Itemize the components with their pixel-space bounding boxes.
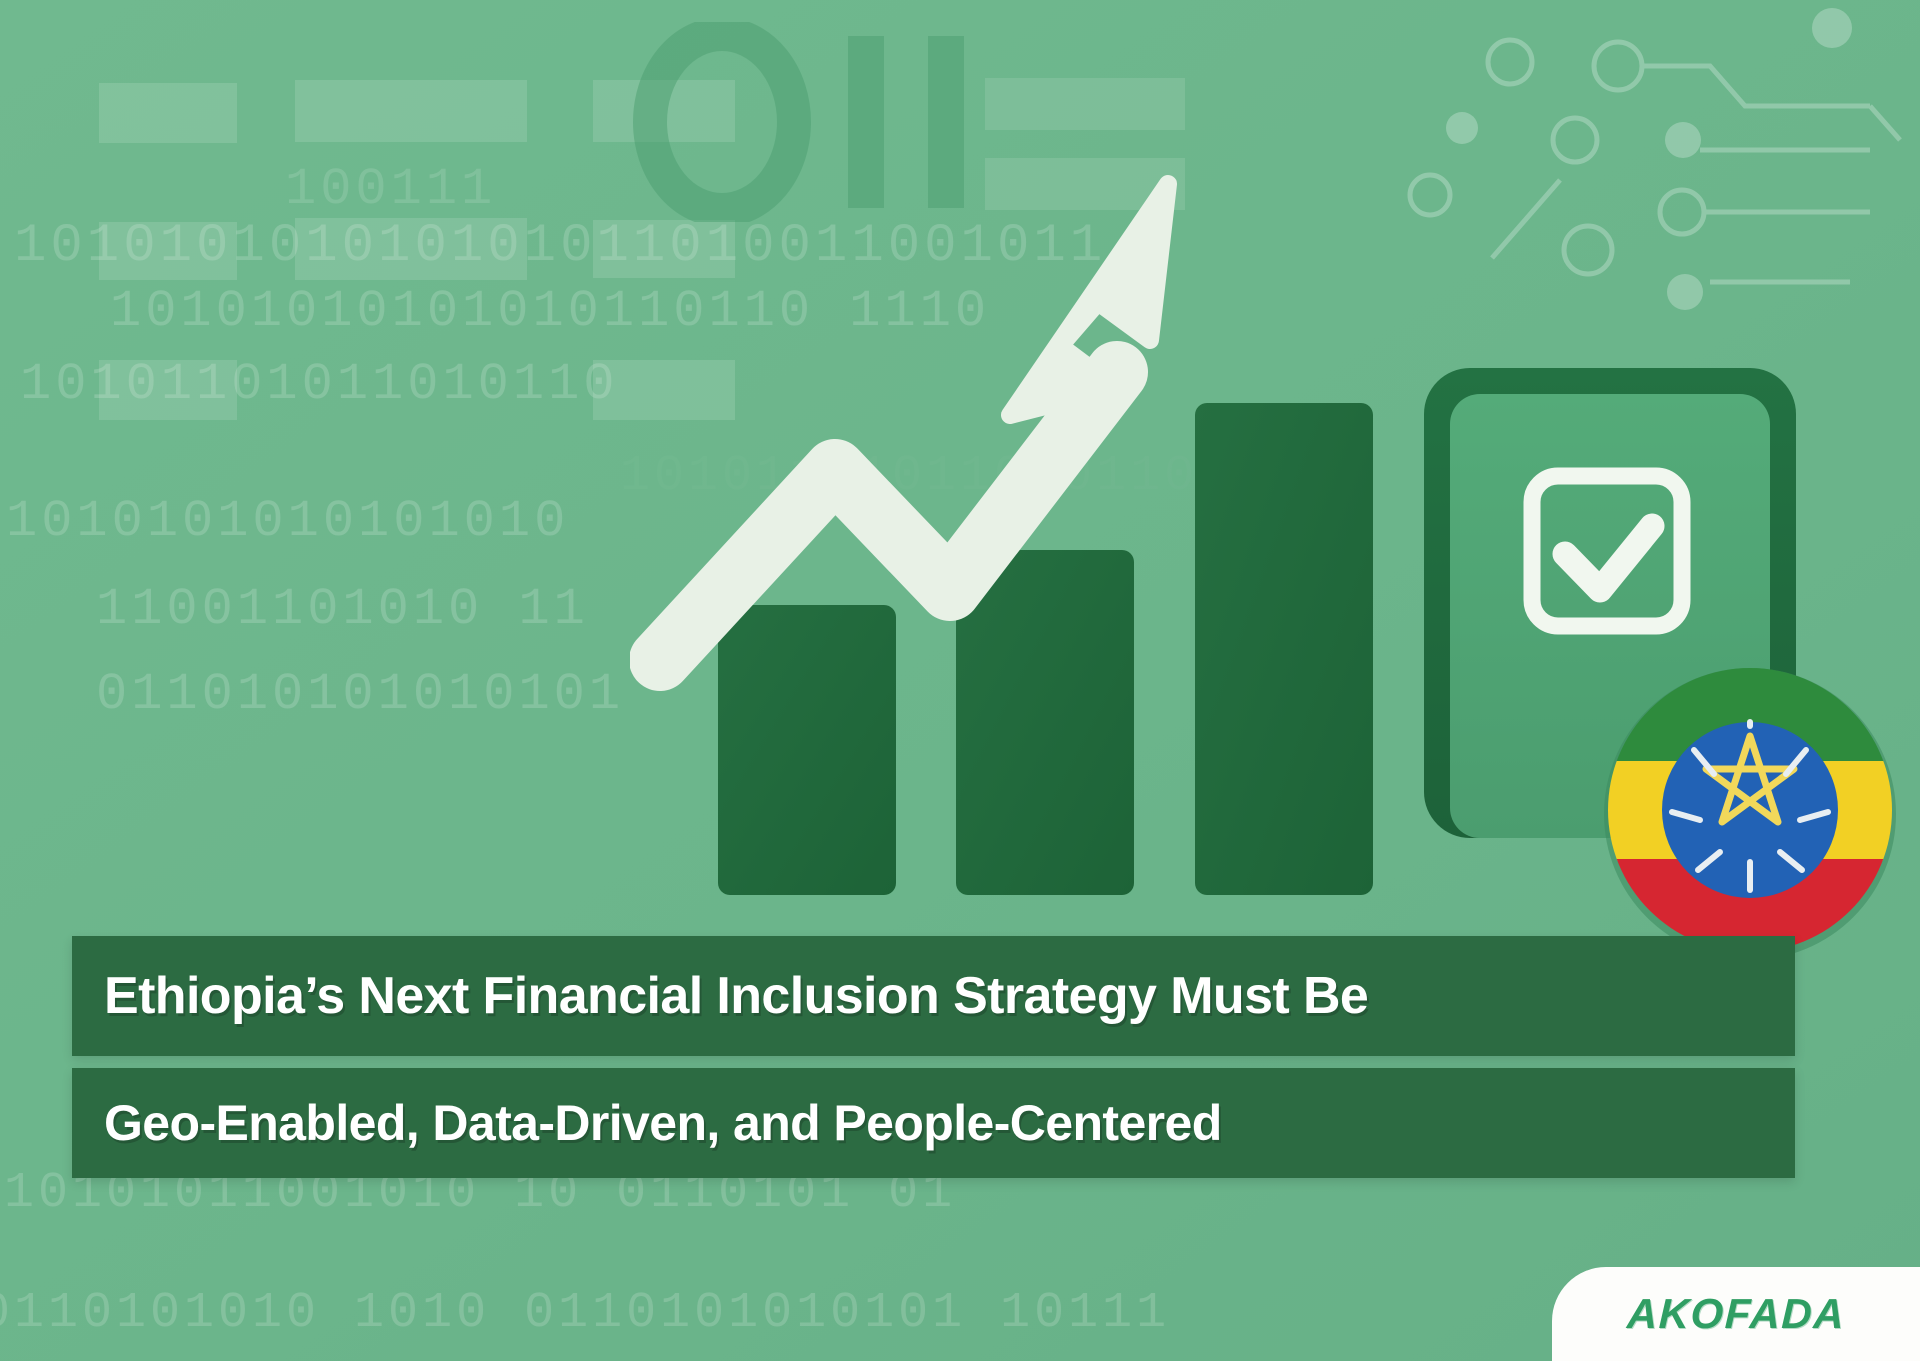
headline-band-primary: Ethiopia’s Next Financial Inclusion Stra… (72, 936, 1795, 1056)
brand-logo-panel[interactable]: AKOFADA (1552, 1267, 1920, 1361)
headline-line-2: Geo-Enabled, Data-Driven, and People-Cen… (104, 1094, 1222, 1152)
upward-trend-arrow (630, 160, 1390, 700)
ethiopia-flag-badge (1602, 662, 1898, 958)
headline-band-secondary: Geo-Enabled, Data-Driven, and People-Cen… (72, 1068, 1795, 1178)
brand-name: AKOFADA (1626, 1290, 1846, 1338)
banner-canvas: 100111 101010101010101011010011001011 10… (0, 0, 1920, 1361)
headline-line-1: Ethiopia’s Next Financial Inclusion Stra… (104, 966, 1368, 1026)
